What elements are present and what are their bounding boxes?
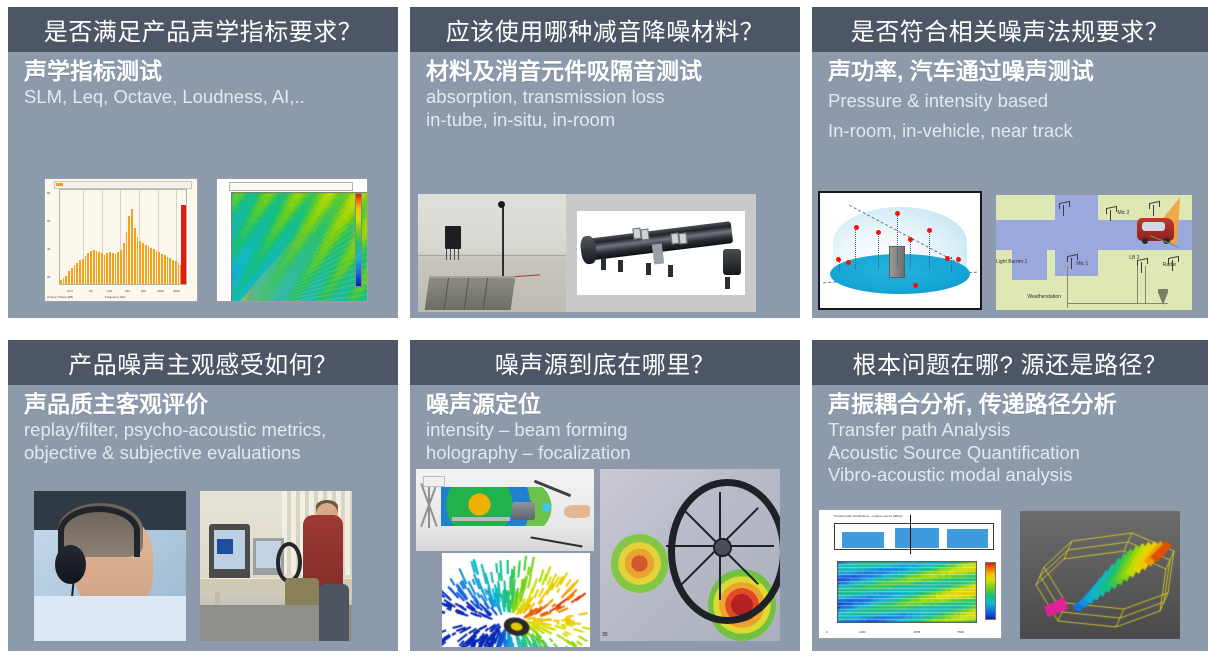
pass-by-noise-track-map: Mic 2 Mic 1 LB 2 Radar Light Barrier 1 W…: [996, 195, 1192, 310]
chart-legend-bar: [54, 181, 192, 189]
intensity-vector-field-plot: [442, 553, 590, 647]
panel-body: 声品质主客观评价 replay/filter, psycho-acoustic …: [8, 385, 398, 651]
panel-media: 30: [410, 469, 800, 651]
contribution-bar-chart: [834, 523, 994, 551]
frame-number: 30: [602, 632, 608, 638]
panel-header: 是否满足产品声学指标要求？: [8, 7, 398, 52]
panel-noise-source-localization[interactable]: 噪声源到底在哪里？ 噪声源定位 intensity – beam forming…: [410, 340, 800, 651]
headphone-earcup: [55, 545, 85, 584]
track-label: Mic 1: [1076, 261, 1088, 267]
impedance-tube: [577, 211, 744, 296]
panel-description-line: Acoustic Source Quantification: [828, 442, 1196, 465]
panel-description-line: objective & subjective evaluations: [24, 442, 386, 465]
panel-media: Transfer path contributions – engine mou…: [812, 499, 1208, 651]
panel-subtitle: 材料及消音元件吸隔音测试: [426, 58, 788, 85]
panel-subtitle: 噪声源定位: [426, 391, 788, 418]
panel-sound-quality-evaluation[interactable]: 产品噪声主观感受如何？ 声品质主客观评价 replay/filter, psyc…: [8, 340, 398, 651]
order-spectrogram-colormap: [216, 178, 368, 302]
panel-subtitle: 声学指标测试: [24, 58, 386, 85]
jury-testing-workstation-photo: [200, 491, 352, 641]
panel-header: 根本问题在哪? 源还是路径？: [812, 340, 1208, 385]
binaural-headphone-listening-photo: [34, 491, 186, 641]
panel-subtitle: 声功率, 汽车通过噪声测试: [828, 58, 1196, 85]
panel-header: 应该使用哪种减音降噪材料？: [410, 7, 800, 52]
panel-description-line: Transfer path Analysis: [828, 419, 1196, 442]
panel-media: [8, 479, 398, 651]
panel-header: 噪声源到底在哪里？: [410, 340, 800, 385]
panel-body: 声功率, 汽车通过噪声测试 Pressure & intensity based…: [812, 52, 1208, 318]
colorbar: [985, 562, 996, 620]
panel-description-line: replay/filter, psycho-acoustic metrics,: [24, 419, 386, 442]
panel-subtitle: 声振耦合分析, 传递路径分析: [828, 391, 1196, 418]
panel-body: 材料及消音元件吸隔音测试 absorption, transmission lo…: [410, 52, 800, 318]
camera: [423, 476, 445, 488]
panel-header: 产品噪声主观感受如何？: [8, 340, 398, 385]
panel-subtitle: 声品质主客观评价: [24, 391, 386, 418]
panel-body: 声学指标测试 SLM, Leq, Octave, Loudness, AI,..…: [8, 52, 398, 318]
antenna-tower: [1158, 289, 1168, 305]
colorbar: [355, 193, 362, 287]
intensity-probe-bench-photo: [416, 469, 594, 551]
panel-media: 80 60 40 20 31.5 63 125 250 500 1000 400…: [8, 162, 398, 318]
colormap-title-bar: [229, 182, 353, 191]
path-colormap: [837, 561, 977, 623]
hemisphere-measurement-diagram: [818, 191, 982, 310]
panel-media: Mic 2 Mic 1 LB 2 Radar Light Barrier 1 W…: [812, 185, 1208, 318]
panel-acoustic-index-test[interactable]: 是否满足产品声学指标要求？ 声学指标测试 SLM, Leq, Octave, L…: [8, 7, 398, 318]
office-chair: [319, 584, 349, 641]
panel-description-line: Pressure & intensity based: [828, 86, 1196, 116]
vibro-acoustic-mode-shape-3d: [1020, 511, 1180, 639]
absorption-sample: [424, 276, 515, 310]
electric-motor: [512, 502, 535, 520]
spectrum-bars: [60, 190, 186, 284]
panel-transfer-path-analysis[interactable]: 根本问题在哪? 源还是路径？ 声振耦合分析, 传递路径分析 Transfer p…: [812, 340, 1208, 651]
panel-body: 噪声源定位 intensity – beam forming holograph…: [410, 385, 800, 651]
panel-media: [410, 187, 800, 318]
panel-absorption-insulation-test[interactable]: 应该使用哪种减音降噪材料？ 材料及消音元件吸隔音测试 absorption, t…: [410, 7, 800, 318]
chart-plot-area: [59, 189, 187, 285]
track-label: Light Barrier 1: [996, 259, 1027, 265]
track-label: Weatherstation: [1027, 294, 1061, 300]
track-label: Mic 2: [1118, 210, 1130, 216]
panel-description-line: SLM, Leq, Octave, Loudness, AI,..: [24, 86, 386, 109]
panel-noise-regulation-compliance[interactable]: 是否符合相关噪声法规要求？ 声功率, 汽车通过噪声测试 Pressure & i…: [812, 7, 1208, 318]
steering-wheel: [276, 542, 302, 583]
panel-header: 是否符合相关噪声法规要求？: [812, 7, 1208, 52]
impedance-tube-photo: [566, 194, 756, 312]
track-label: LB 2: [1129, 255, 1139, 261]
panel-description-line: in-tube, in-situ, in-room: [426, 109, 788, 132]
tpa-contribution-colormap: Transfer path contributions – engine mou…: [818, 509, 1002, 639]
panel-description-line: holography – focalization: [426, 442, 788, 465]
panel-description-line: absorption, transmission loss: [426, 86, 788, 109]
loudspeaker: [445, 226, 461, 250]
panel-description-line: intensity – beam forming: [426, 419, 788, 442]
overall-level-bar: [181, 205, 186, 284]
panel-description-line: Vibro-acoustic modal analysis: [828, 464, 1196, 487]
track-label: Radar: [1163, 262, 1177, 268]
beamforming-array-overlay-photo: 30: [600, 469, 780, 641]
reverberation-room-photo: [418, 194, 566, 312]
sound-pressure-spectrum-chart: 80 60 40 20 31.5 63 125 250 500 1000 400…: [44, 178, 198, 302]
panel-grid: 是否满足产品声学指标要求？ 声学指标测试 SLM, Leq, Octave, L…: [0, 0, 1209, 660]
panel-body: 声振耦合分析, 传递路径分析 Transfer path Analysis Ac…: [812, 385, 1208, 651]
crt-monitor: [209, 524, 250, 580]
microphone: [498, 201, 505, 208]
panel-description-line: In-room, in-vehicle, near track: [828, 116, 1196, 146]
colormap-canvas: [231, 192, 368, 302]
